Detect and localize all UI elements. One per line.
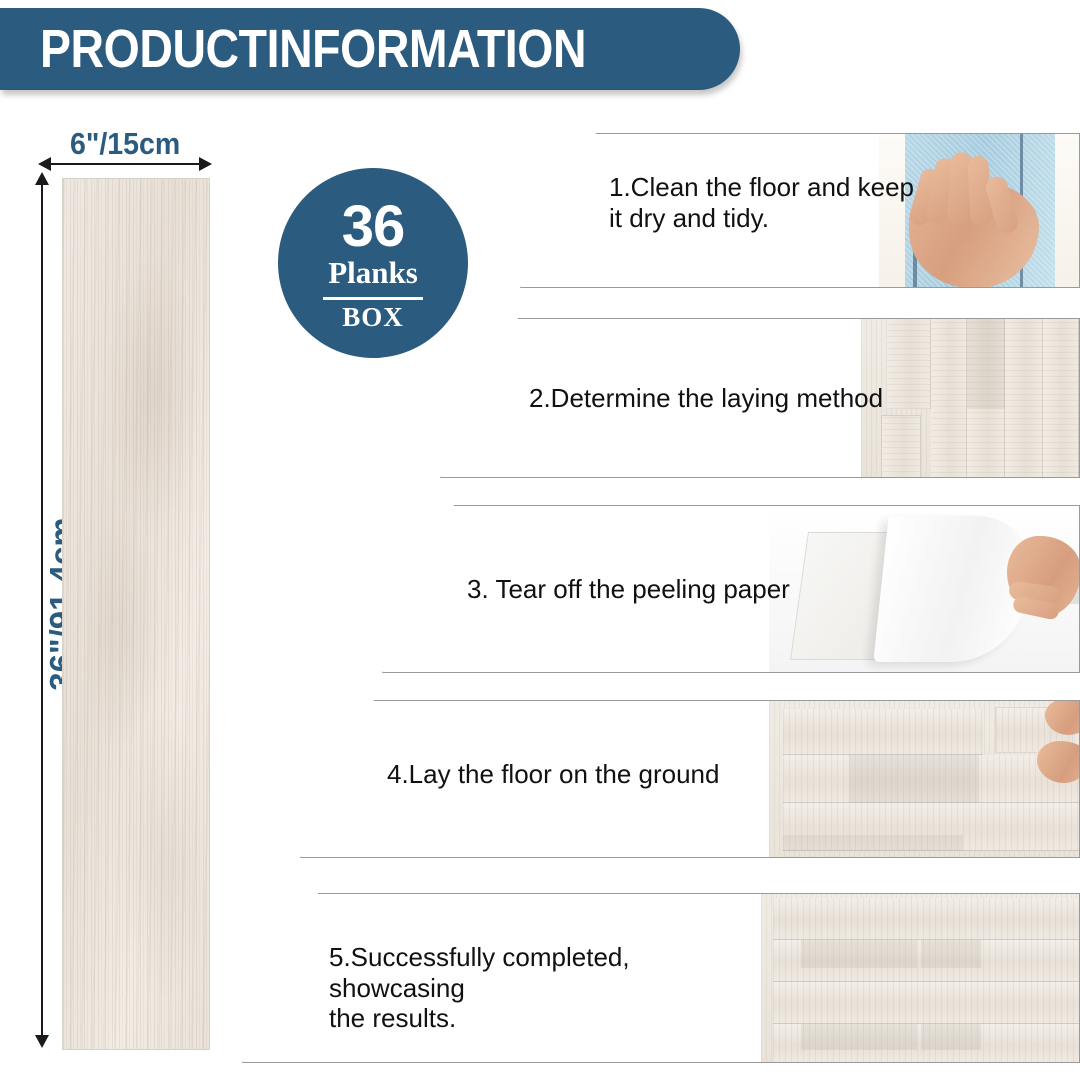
height-arrow-bottom-head-icon bbox=[35, 1035, 49, 1048]
step-text: 2.Determine the laying method bbox=[529, 383, 959, 414]
step-row: 3. Tear off the peeling paper bbox=[382, 505, 1080, 673]
step-text: 5.Successfully completed, showcasing the… bbox=[329, 942, 769, 1034]
plank-shade bbox=[801, 1024, 917, 1050]
width-arrow-right-head-icon bbox=[199, 157, 212, 171]
height-arrow-line bbox=[41, 180, 43, 1046]
plank bbox=[1043, 319, 1079, 477]
plank-shade bbox=[783, 835, 963, 851]
plank bbox=[1005, 319, 1043, 477]
plank-shade bbox=[921, 940, 981, 968]
plank bbox=[773, 898, 1079, 940]
width-arrow-left-head-icon bbox=[38, 157, 51, 171]
plank-shade bbox=[801, 940, 917, 968]
step-row: 2.Determine the laying method bbox=[440, 318, 1080, 478]
badge-unit-label: Planks bbox=[328, 256, 418, 290]
step-photo bbox=[761, 894, 1079, 1062]
step-row: 5.Successfully completed, showcasing the… bbox=[242, 893, 1080, 1063]
step-row: 4.Lay the floor on the ground bbox=[300, 700, 1080, 858]
height-arrow-top-head-icon bbox=[35, 172, 49, 185]
plank bbox=[783, 709, 983, 755]
plank-shade bbox=[849, 755, 979, 803]
step-panel: 1.Clean the floor and keep it dry and ti… bbox=[520, 133, 1080, 288]
header-banner: PRODUCTINFORMATION bbox=[0, 8, 740, 90]
step-text: 1.Clean the floor and keep it dry and ti… bbox=[609, 172, 939, 233]
step-panel: 5.Successfully completed, showcasing the… bbox=[242, 893, 1080, 1063]
step-text: 3. Tear off the peeling paper bbox=[467, 574, 887, 605]
step-panel: 4.Lay the floor on the ground bbox=[300, 700, 1080, 858]
plank-sample-image bbox=[62, 178, 210, 1050]
badge-per-label: BOX bbox=[342, 304, 404, 331]
badge-divider bbox=[323, 297, 423, 300]
badge-count: 36 bbox=[342, 199, 405, 254]
step-row: 1.Clean the floor and keep it dry and ti… bbox=[520, 133, 1080, 288]
plank-shade bbox=[921, 1024, 981, 1050]
width-dimension-label: 6"/15cm bbox=[70, 126, 180, 162]
detached-plank bbox=[881, 415, 921, 477]
step-panel: 2.Determine the laying method bbox=[440, 318, 1080, 478]
plank bbox=[773, 982, 1079, 1024]
step-text: 4.Lay the floor on the ground bbox=[387, 759, 817, 790]
width-arrow-line bbox=[44, 163, 210, 165]
plank-shade bbox=[967, 319, 1005, 409]
step-panel: 3. Tear off the peeling paper bbox=[382, 505, 1080, 673]
page-title: PRODUCTINFORMATION bbox=[40, 18, 586, 80]
